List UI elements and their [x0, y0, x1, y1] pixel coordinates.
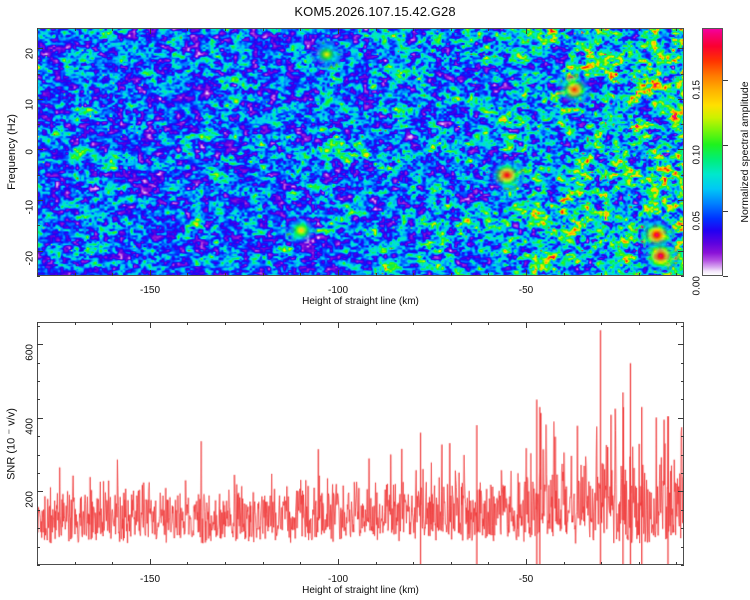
spectrogram-ytick-major-right — [678, 48, 684, 49]
spectrogram-xtick-minor — [112, 273, 113, 276]
spectrogram-ytick-major-right — [678, 251, 684, 252]
snr-xtick-minor — [564, 562, 565, 565]
snr-xtick-minor — [225, 562, 226, 565]
spectrogram-xtick-minor-top — [564, 28, 565, 31]
snr-panel — [37, 322, 684, 565]
spectrogram-ytick-major — [37, 200, 43, 201]
spectrogram-yticklabel: -10 — [25, 200, 36, 214]
colorbar-title: Normalized spectral amplitude — [739, 81, 750, 222]
snr-ytick-minor-right — [681, 528, 684, 529]
spectrogram-ytick-major-right — [678, 200, 684, 201]
snr-ytick-minor — [37, 363, 40, 364]
spectrogram-yticklabel: 0 — [25, 149, 36, 155]
spectrogram-xtick-minor-top — [300, 28, 301, 31]
spectrogram-xtick-minor — [564, 273, 565, 276]
spectrogram-xticklabel: -100 — [328, 285, 348, 296]
spectrogram-xtick-minor — [263, 273, 264, 276]
snr-ytick-minor — [37, 510, 40, 511]
snr-trace-plot — [38, 323, 683, 564]
snr-xtick-minor-top — [263, 322, 264, 325]
snr-xtick-minor — [488, 562, 489, 565]
snr-xtick-minor-top — [300, 322, 301, 325]
spectrogram-xtick-minor-top — [75, 28, 76, 31]
snr-ytick-minor-right — [681, 473, 684, 474]
snr-xtick-major-top — [526, 322, 527, 328]
spectrogram-yticklabel: 10 — [25, 99, 36, 110]
snr-ytick-major-right — [678, 418, 684, 419]
spectrogram-xtick-minor — [451, 273, 452, 276]
colorbar-gradient — [702, 28, 723, 276]
snr-xtick-minor — [263, 562, 264, 565]
spectrogram-ytick-minor-right — [681, 124, 684, 125]
spectrogram-ytick-minor — [37, 124, 40, 125]
snr-ytick-minor — [37, 547, 40, 548]
snr-xtick-minor — [639, 562, 640, 565]
spectrogram-xtick-minor — [187, 273, 188, 276]
snr-ytick-major-right — [678, 491, 684, 492]
spectrogram-yticklabel: 20 — [25, 48, 36, 59]
snr-xtick-major-top — [338, 322, 339, 328]
spectrogram-xtick-minor — [488, 273, 489, 276]
spectrogram-xticklabel: -150 — [140, 285, 160, 296]
spectrogram-ytick-major-right — [678, 99, 684, 100]
spectrogram-panel — [37, 28, 684, 276]
snr-xticklabel: -50 — [519, 574, 533, 585]
spectrogram-xtick-minor-top — [225, 28, 226, 31]
spectrogram-xtick-minor-top — [37, 28, 38, 31]
spectrogram-xtick-minor — [676, 273, 677, 276]
spectrogram-xtick-minor-top — [112, 28, 113, 31]
colorbar-tick — [723, 80, 728, 81]
snr-ytick-minor — [37, 436, 40, 437]
snr-ytick-minor-right — [681, 436, 684, 437]
spectrogram-y-axis-title: Frequency (Hz) — [6, 114, 18, 190]
colorbar-ticklabel: 0.15 — [692, 80, 703, 99]
spectrogram-xtick-minor-top — [187, 28, 188, 31]
snr-ytick-minor — [37, 528, 40, 529]
page-title: KOM5.2026.107.15.42.G28 — [0, 4, 750, 19]
spectrogram-xtick-minor — [639, 273, 640, 276]
snr-ytick-minor-right — [681, 565, 684, 566]
snr-xtick-minor-top — [451, 322, 452, 325]
snr-xtick-minor-top — [676, 322, 677, 325]
snr-xtick-major — [338, 559, 339, 565]
spectrogram-xtick-minor-top — [488, 28, 489, 31]
spectrogram-xtick-minor — [75, 273, 76, 276]
snr-ytick-minor — [37, 455, 40, 456]
spectrogram-xtick-major — [150, 270, 151, 276]
spectrogram-xticklabel: -50 — [519, 285, 533, 296]
spectrogram-xtick-minor-top — [676, 28, 677, 31]
snr-ytick-minor-right — [681, 455, 684, 456]
snr-xtick-minor — [112, 562, 113, 565]
snr-xtick-minor — [451, 562, 452, 565]
snr-y-axis-title: SNR (10 ⁻ v/v) — [5, 408, 18, 480]
spectrogram-ytick-minor-right — [681, 225, 684, 226]
spectrogram-xtick-minor-top — [413, 28, 414, 31]
spectrogram-ytick-minor — [37, 74, 40, 75]
snr-xtick-minor-top — [639, 322, 640, 325]
spectrogram-xtick-minor — [376, 273, 377, 276]
spectrogram-xtick-minor-top — [376, 28, 377, 31]
snr-ytick-minor — [37, 473, 40, 474]
snr-xtick-major-top — [150, 322, 151, 328]
snr-xtick-minor-top — [376, 322, 377, 325]
spectrogram-ytick-minor-right — [681, 175, 684, 176]
snr-ytick-minor-right — [681, 399, 684, 400]
snr-xtick-minor — [187, 562, 188, 565]
spectrogram-ytick-minor — [37, 175, 40, 176]
spectrogram-ytick-major — [37, 251, 43, 252]
spectrogram-xtick-minor-top — [639, 28, 640, 31]
spectrogram-xtick-major-top — [526, 28, 527, 34]
snr-xtick-minor-top — [187, 322, 188, 325]
colorbar-ticklabel: 0.05 — [692, 211, 703, 230]
colorbar-ticklabel: 0.00 — [692, 276, 703, 295]
colorbar-tick — [723, 211, 728, 212]
snr-xtick-minor — [413, 562, 414, 565]
snr-xtick-minor-top — [225, 322, 226, 325]
snr-xtick-minor-top — [488, 322, 489, 325]
spectrogram-ytick-minor-right — [681, 276, 684, 277]
spectrogram-ytick-major — [37, 149, 43, 150]
colorbar — [702, 28, 723, 276]
spectrogram-xtick-major-top — [150, 28, 151, 34]
spectrogram-xtick-minor-top — [263, 28, 264, 31]
snr-xtick-minor — [376, 562, 377, 565]
snr-ytick-minor-right — [681, 547, 684, 548]
snr-yticklabel: 600 — [25, 344, 36, 361]
spectrogram-ytick-major — [37, 99, 43, 100]
spectrogram-ytick-minor — [37, 276, 40, 277]
snr-ytick-major — [37, 344, 43, 345]
snr-ytick-minor — [37, 381, 40, 382]
snr-xtick-major — [526, 559, 527, 565]
snr-xticklabel: -150 — [140, 574, 160, 585]
snr-xtick-minor — [300, 562, 301, 565]
snr-xtick-minor-top — [564, 322, 565, 325]
spectrogram-yticklabel: -20 — [25, 251, 36, 265]
snr-xtick-minor — [75, 562, 76, 565]
snr-x-axis-title: Height of straight line (km) — [302, 585, 419, 596]
snr-xtick-minor-top — [37, 322, 38, 325]
snr-xtick-minor — [676, 562, 677, 565]
snr-xtick-minor-top — [413, 322, 414, 325]
spectrogram-xtick-minor — [225, 273, 226, 276]
spectrogram-xtick-minor-top — [451, 28, 452, 31]
colorbar-ticklabel: 0.10 — [692, 145, 703, 164]
snr-ytick-minor-right — [681, 381, 684, 382]
snr-ytick-minor-right — [681, 363, 684, 364]
spectrogram-image — [38, 29, 683, 275]
colorbar-tick — [723, 145, 728, 146]
colorbar-tick — [723, 276, 728, 277]
snr-xtick-minor-top — [601, 322, 602, 325]
spectrogram-xtick-major-top — [338, 28, 339, 34]
snr-xtick-minor-top — [112, 322, 113, 325]
snr-yticklabel: 400 — [25, 418, 36, 435]
snr-ytick-minor — [37, 399, 40, 400]
snr-ytick-major — [37, 491, 43, 492]
spectrogram-xtick-minor — [413, 273, 414, 276]
snr-ytick-minor-right — [681, 510, 684, 511]
snr-xticklabel: -100 — [328, 574, 348, 585]
spectrogram-ytick-minor-right — [681, 74, 684, 75]
spectrogram-xtick-minor — [300, 273, 301, 276]
spectrogram-ytick-major-right — [678, 149, 684, 150]
spectrogram-xtick-major — [338, 270, 339, 276]
spectrogram-xtick-minor — [601, 273, 602, 276]
spectrogram-ytick-minor — [37, 225, 40, 226]
spectrogram-xtick-minor-top — [601, 28, 602, 31]
snr-ytick-minor — [37, 565, 40, 566]
snr-yticklabel: 200 — [25, 491, 36, 508]
spectrogram-x-axis-title: Height of straight line (km) — [302, 296, 419, 307]
spectrogram-xtick-major — [526, 270, 527, 276]
snr-ytick-major-right — [678, 344, 684, 345]
snr-xtick-minor — [601, 562, 602, 565]
snr-ytick-minor — [37, 326, 40, 327]
snr-ytick-major — [37, 418, 43, 419]
spectrogram-ytick-major — [37, 48, 43, 49]
snr-xtick-major — [150, 559, 151, 565]
snr-ytick-minor-right — [681, 326, 684, 327]
snr-xtick-minor-top — [75, 322, 76, 325]
